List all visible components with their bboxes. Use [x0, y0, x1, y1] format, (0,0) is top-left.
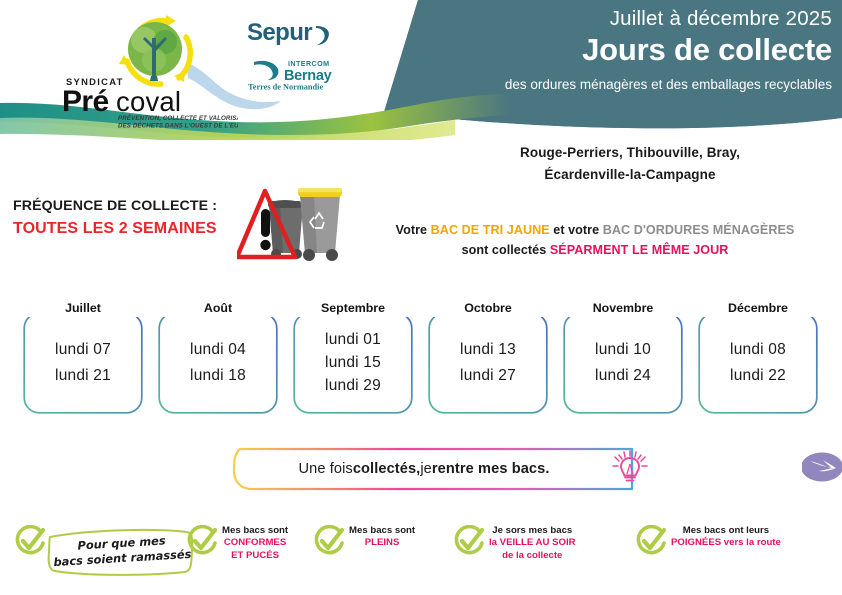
- tip-handwritten-text: Pour que mes bacs soient ramassés: [46, 521, 199, 582]
- tip-item-2: Mes bacs sont PLEINS: [312, 525, 415, 559]
- header-period: Juillet à décembre 2025: [312, 6, 832, 32]
- month-days: lundi 01 lundi 15 lundi 29: [293, 312, 413, 414]
- checkmark-icon: [312, 525, 346, 559]
- tip-item-0: Pour que mes bacs soient ramassés: [13, 525, 197, 577]
- tip-item-3: Je sors mes bacs la VEILLE AU SOIR de la…: [452, 525, 576, 562]
- bubble-seg-2: collectés,: [353, 461, 421, 477]
- header-text-block: Juillet à décembre 2025 Jours de collect…: [312, 6, 832, 94]
- tip-line-1: Mes bacs sont: [222, 525, 288, 537]
- month-days: lundi 08 lundi 22: [698, 312, 818, 414]
- tip-line-3: ET PUCÉS: [222, 550, 288, 562]
- collection-day: lundi 27: [460, 367, 516, 385]
- svg-text:coval: coval: [116, 86, 181, 117]
- month-card-1[interactable]: Août lundi 04 lundi 18: [158, 312, 278, 414]
- tip-line-1: Mes bacs sont: [349, 525, 415, 537]
- header: SYNDICAT Pré coval PRÉVENTION, COLLECTE …: [0, 0, 842, 135]
- poster-root: SYNDICAT Pré coval PRÉVENTION, COLLECTE …: [0, 0, 842, 595]
- bubble-seg-4: rentre mes bacs.: [432, 461, 550, 477]
- collection-day: lundi 22: [730, 367, 786, 385]
- tip-text: Mes bacs ont leurs POIGNÉES vers la rout…: [671, 525, 781, 550]
- frequency-block: FRÉQUENCE DE COLLECTE : TOUTES LES 2 SEM…: [13, 196, 253, 240]
- collection-day: lundi 07: [55, 341, 111, 359]
- frequency-label: FRÉQUENCE DE COLLECTE :: [13, 196, 253, 217]
- communes-line-2: Écardenville-la-Campagne: [430, 164, 830, 186]
- tip-line-2: la VEILLE AU SOIR: [489, 537, 576, 549]
- month-days: lundi 07 lundi 21: [23, 312, 143, 414]
- tip-item-1: Mes bacs sont CONFORMES ET PUCÉS: [185, 525, 288, 562]
- checkmark-icon: [634, 525, 668, 559]
- tip-handwritten-box: Pour que mes bacs soient ramassés: [47, 525, 197, 577]
- warning-bins-illustration: [237, 183, 357, 263]
- collection-day: lundi 01: [325, 331, 381, 349]
- notice-line-2: sont collectés SÉPARMENT LE MÊME JOUR: [355, 240, 835, 260]
- tip-hand-line-2: bacs soient ramassés: [53, 547, 192, 570]
- notice-seg-et-votre: et votre: [550, 223, 603, 237]
- tip-line-1: Mes bacs ont leurs: [671, 525, 781, 537]
- bubble-seg-3: je: [420, 461, 432, 477]
- collection-day: lundi 13: [460, 341, 516, 359]
- tip-line-1: Je sors mes bacs: [489, 525, 576, 537]
- notice-seg-sont-collectes: sont collectés: [462, 243, 550, 257]
- separate-collection-notice: Votre BAC DE TRI JAUNE et votre BAC D'OR…: [355, 220, 835, 260]
- collection-day: lundi 21: [55, 367, 111, 385]
- frequency-value: TOUTES LES 2 SEMAINES: [13, 217, 253, 240]
- months-grid: Juillet lundi 07 lundi 21 Août lundi 04 …: [0, 296, 842, 418]
- notice-seg-bac-jaune: BAC DE TRI JAUNE: [431, 223, 550, 237]
- tip-item-4: Mes bacs ont leurs POIGNÉES vers la rout…: [634, 525, 781, 559]
- collection-day: lundi 15: [325, 354, 381, 372]
- month-card-0[interactable]: Juillet lundi 07 lundi 21: [23, 312, 143, 414]
- month-days: lundi 13 lundi 27: [428, 312, 548, 414]
- tips-row: Pour que mes bacs soient ramassés Mes ba…: [0, 512, 842, 587]
- bubble-seg-1: Une fois: [298, 461, 352, 477]
- svg-text:PRÉVENTION, COLLECTE ET VALORI: PRÉVENTION, COLLECTE ET VALORISATION: [118, 114, 238, 122]
- tip-line-2: POIGNÉES vers la route: [671, 537, 781, 549]
- collection-day: lundi 24: [595, 367, 651, 385]
- notice-line-1: Votre BAC DE TRI JAUNE et votre BAC D'OR…: [355, 220, 835, 240]
- header-subtitle: des ordures ménagères et des emballages …: [312, 76, 832, 94]
- communes-list: Rouge-Perriers, Thibouville, Bray, Écard…: [430, 142, 830, 186]
- svg-text:Sepur: Sepur: [247, 19, 312, 46]
- reminder-bubble: Une fois collectés, je rentre mes bacs.: [228, 445, 648, 495]
- next-arrow-button[interactable]: [802, 452, 842, 482]
- notice-seg-separement: SÉPARMENT LE MÊME JOUR: [550, 243, 729, 257]
- month-card-5[interactable]: Décembre lundi 08 lundi 22: [698, 312, 818, 414]
- collection-day: lundi 04: [190, 341, 246, 359]
- page-title: Jours de collecte: [312, 30, 832, 69]
- tip-text: Je sors mes bacs la VEILLE AU SOIR de la…: [489, 525, 576, 562]
- tip-text: Mes bacs sont CONFORMES ET PUCÉS: [222, 525, 288, 562]
- collection-day: lundi 18: [190, 367, 246, 385]
- month-days: lundi 10 lundi 24: [563, 312, 683, 414]
- collection-day: lundi 10: [595, 341, 651, 359]
- communes-line-1: Rouge-Perriers, Thibouville, Bray,: [430, 142, 830, 164]
- checkmark-icon: [452, 525, 486, 559]
- checkmark-icon: [185, 525, 219, 559]
- tip-line-2: PLEINS: [349, 537, 415, 549]
- lightbulb-icon: [608, 447, 652, 491]
- collection-day: lundi 08: [730, 341, 786, 359]
- month-card-3[interactable]: Octobre lundi 13 lundi 27: [428, 312, 548, 414]
- notice-seg-bac-om: BAC D'ORDURES MÉNAGÈRES: [603, 223, 795, 237]
- month-days: lundi 04 lundi 18: [158, 312, 278, 414]
- notice-seg-votre: Votre: [396, 223, 431, 237]
- checkmark-icon: [13, 525, 47, 559]
- logo-precoval: SYNDICAT Pré coval PRÉVENTION, COLLECTE …: [48, 4, 238, 129]
- svg-text:Pré: Pré: [62, 85, 109, 118]
- yellow-lid-bin-icon: [298, 188, 342, 261]
- month-card-4[interactable]: Novembre lundi 10 lundi 24: [563, 312, 683, 414]
- month-card-2[interactable]: Septembre lundi 01 lundi 15 lundi 29: [293, 312, 413, 414]
- tip-line-2: CONFORMES: [222, 537, 288, 549]
- collection-day: lundi 29: [325, 377, 381, 395]
- bubble-text: Une fois collectés, je rentre mes bacs.: [228, 445, 620, 493]
- tip-line-3: de la collecte: [489, 550, 576, 562]
- tip-text: Mes bacs sont PLEINS: [349, 525, 415, 550]
- svg-text:DES DÉCHETS DANS L'OUEST DE L': DES DÉCHETS DANS L'OUEST DE L'EURE: [118, 122, 238, 130]
